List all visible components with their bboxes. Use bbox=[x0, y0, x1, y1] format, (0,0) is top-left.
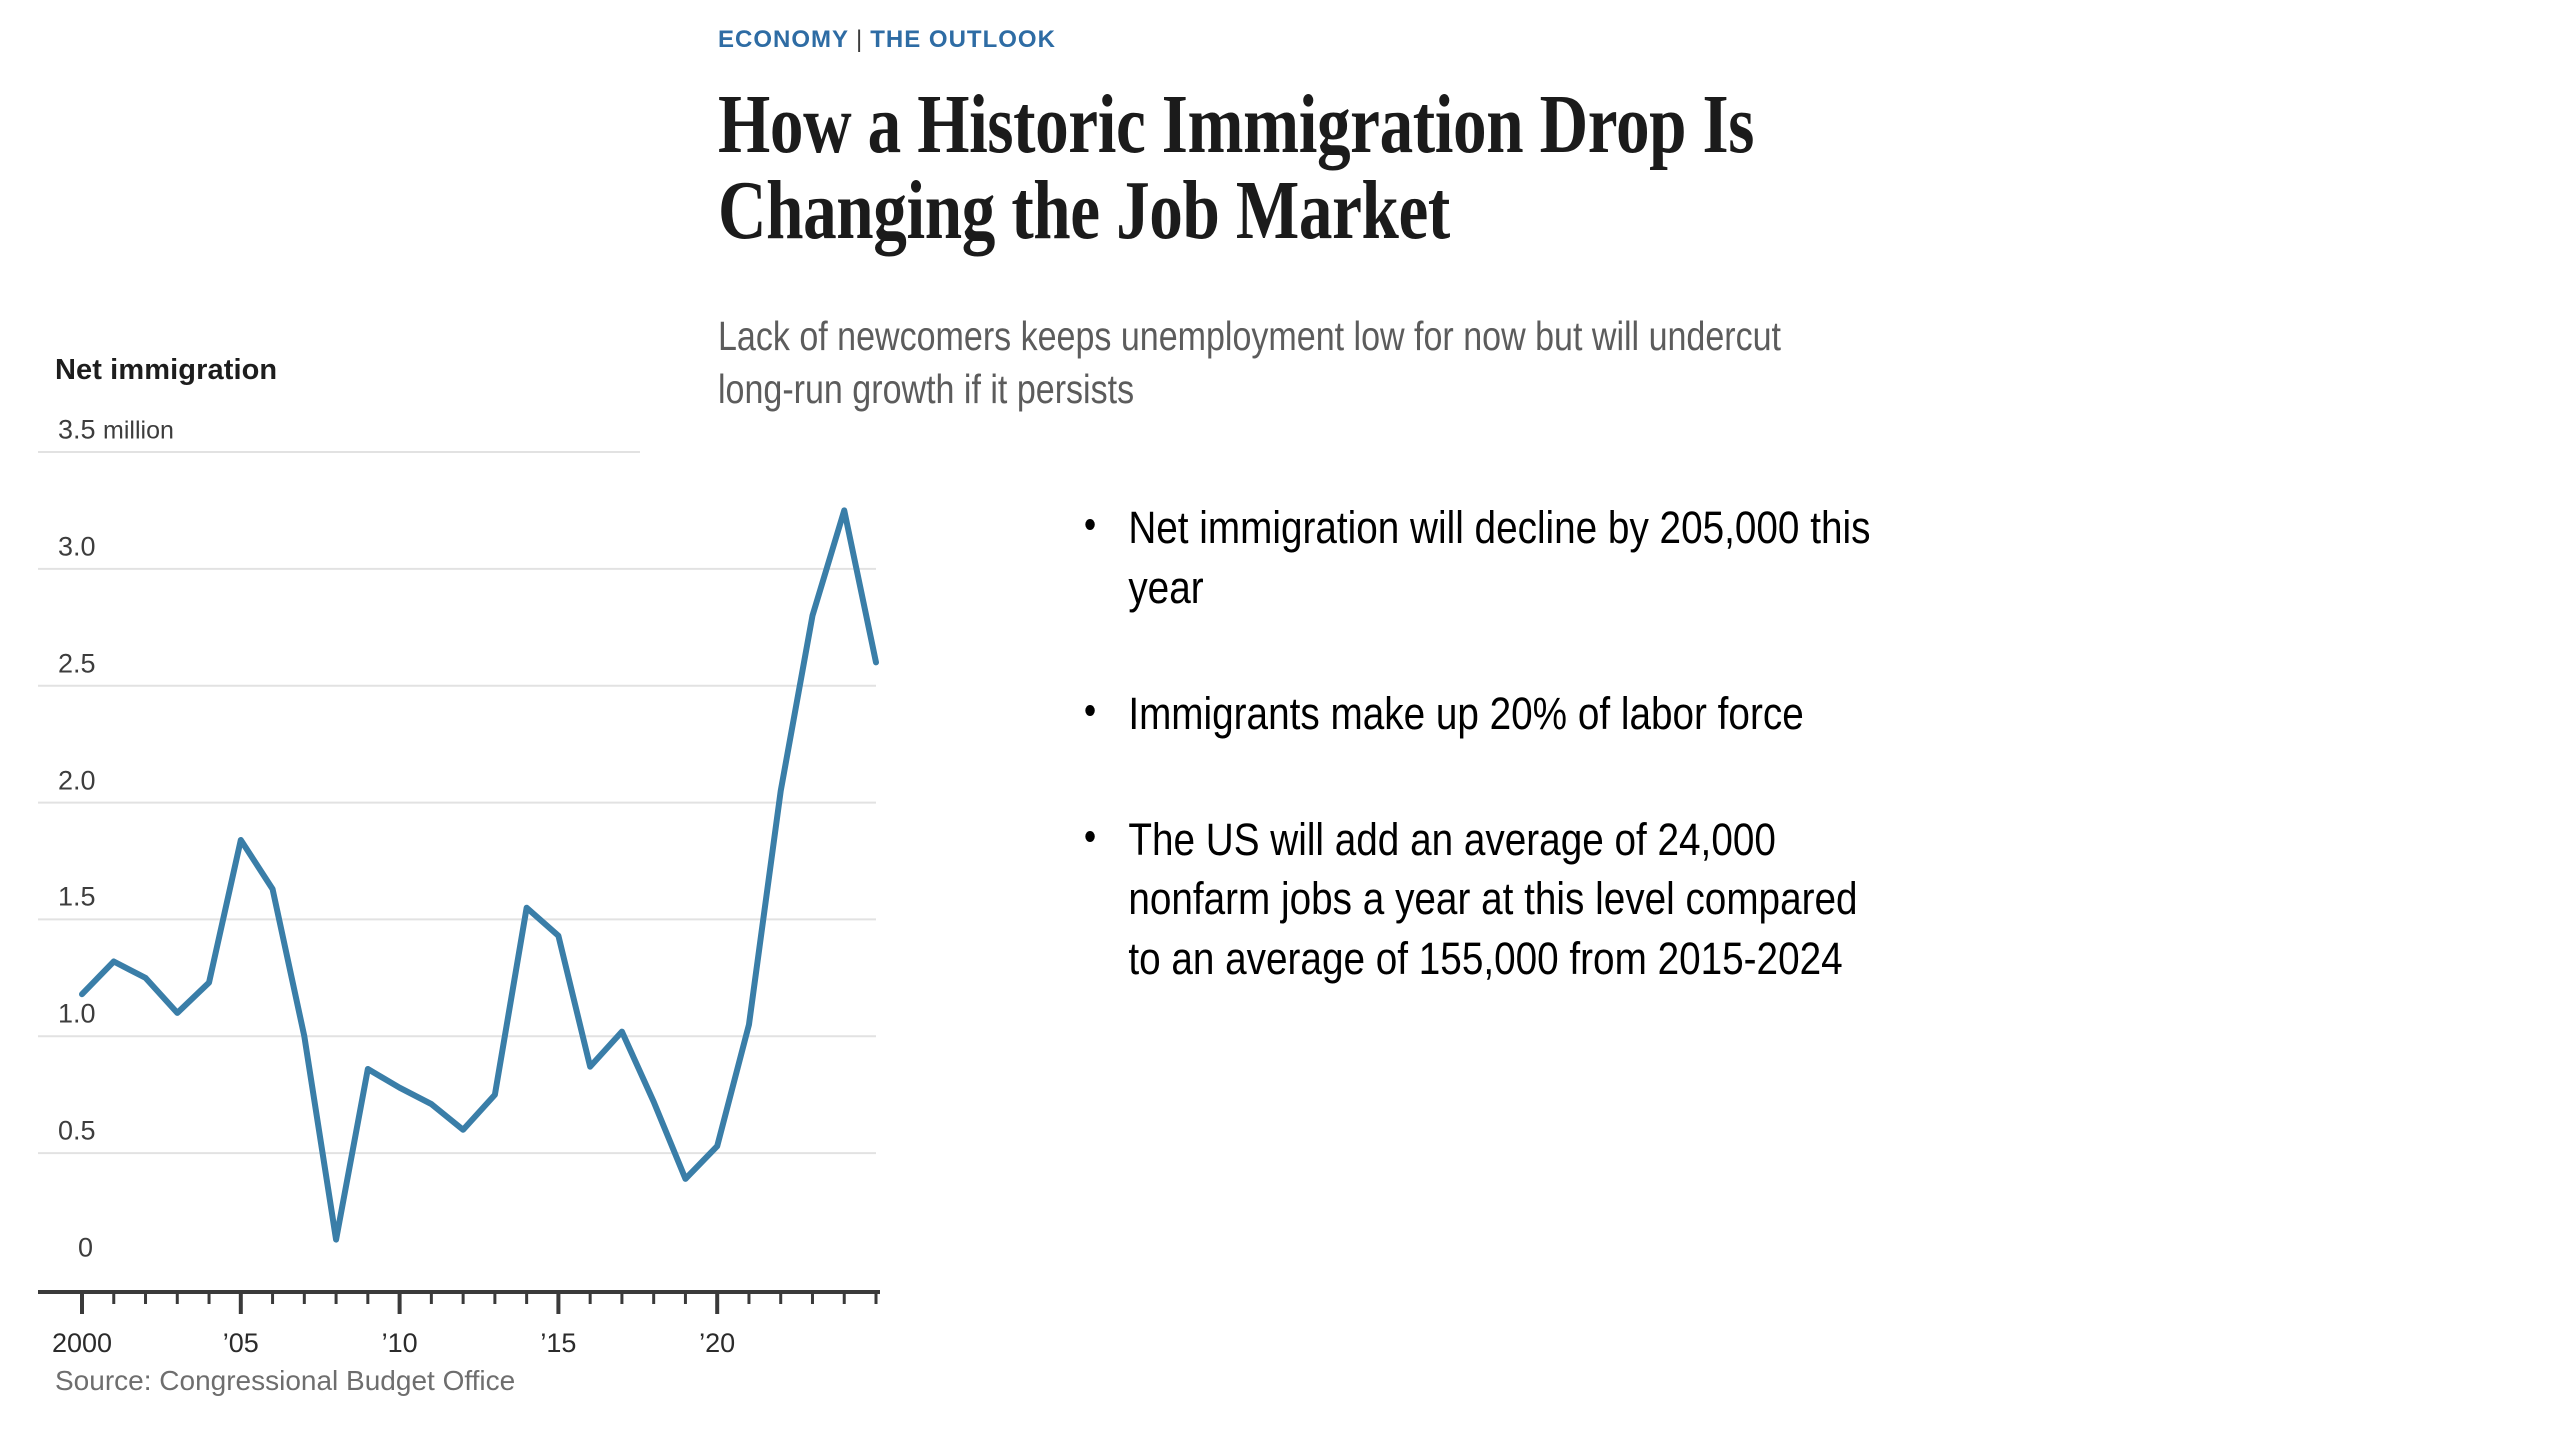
x-axis-tick-label: ’15 bbox=[540, 1328, 576, 1359]
headline-line-1: How a Historic Immigration Drop Is bbox=[718, 78, 1754, 171]
list-item: The US will add an average of 24,000 non… bbox=[1075, 810, 2470, 990]
x-axis-tick-label: ’10 bbox=[382, 1328, 418, 1359]
x-axis-tick-label: 2000 bbox=[52, 1328, 112, 1359]
chart-plot-area bbox=[0, 330, 960, 1440]
bullet-3-line-1: The US will add an average of 24,000 bbox=[1128, 810, 2470, 870]
chart-x-axis bbox=[38, 1292, 880, 1314]
x-axis-tick-label: ’20 bbox=[699, 1328, 735, 1359]
page-title: How a Historic Immigration Drop Is Chang… bbox=[718, 82, 2126, 253]
y-axis-tick-label: 0.5 bbox=[58, 1116, 96, 1147]
bullet-1-line-1: Net immigration will decline by 205,000 … bbox=[1128, 498, 2470, 558]
kicker-separator: | bbox=[849, 26, 870, 53]
kicker-section-economy[interactable]: ECONOMY bbox=[718, 26, 849, 53]
y-axis-tick-label: 3.0 bbox=[58, 531, 96, 562]
bullet-dot-icon bbox=[1085, 831, 1094, 842]
net-immigration-series-line bbox=[82, 510, 876, 1239]
chart-source: Source: Congressional Budget Office bbox=[55, 1365, 515, 1397]
article-kicker: ECONOMY|THE OUTLOOK bbox=[718, 28, 2138, 52]
bullet-dot-icon bbox=[1085, 519, 1094, 530]
key-points-list: Net immigration will decline by 205,000 … bbox=[1075, 498, 2475, 1055]
list-item: Net immigration will decline by 205,000 … bbox=[1075, 498, 2470, 618]
bullet-1-line-2: year bbox=[1128, 558, 2470, 618]
y-axis-tick-label: 2.0 bbox=[58, 765, 96, 796]
y-axis-tick-label: 1.5 bbox=[58, 882, 96, 913]
y-axis-tick-label: 0 bbox=[78, 1233, 93, 1264]
headline-line-2: Changing the Job Market bbox=[718, 168, 2126, 254]
net-immigration-chart: Net immigration 3.5 million3.02.52.01.51… bbox=[0, 330, 960, 1440]
chart-gridlines bbox=[38, 452, 876, 1153]
x-axis-tick-label: ’05 bbox=[223, 1328, 259, 1359]
bullet-3-line-3: to an average of 155,000 from 2015-2024 bbox=[1128, 929, 2470, 989]
bullet-2-line-1: Immigrants make up 20% of labor force bbox=[1128, 684, 2470, 744]
kicker-section-the-outlook[interactable]: THE OUTLOOK bbox=[870, 26, 1056, 53]
y-axis-tick-label: 3.5 million bbox=[58, 415, 174, 446]
bullet-dot-icon bbox=[1085, 705, 1094, 716]
y-axis-tick-label: 2.5 bbox=[58, 648, 96, 679]
list-item: Immigrants make up 20% of labor force bbox=[1075, 684, 2470, 744]
bullet-3-line-2: nonfarm jobs a year at this level compar… bbox=[1128, 869, 2470, 929]
y-axis-tick-label: 1.0 bbox=[58, 999, 96, 1030]
